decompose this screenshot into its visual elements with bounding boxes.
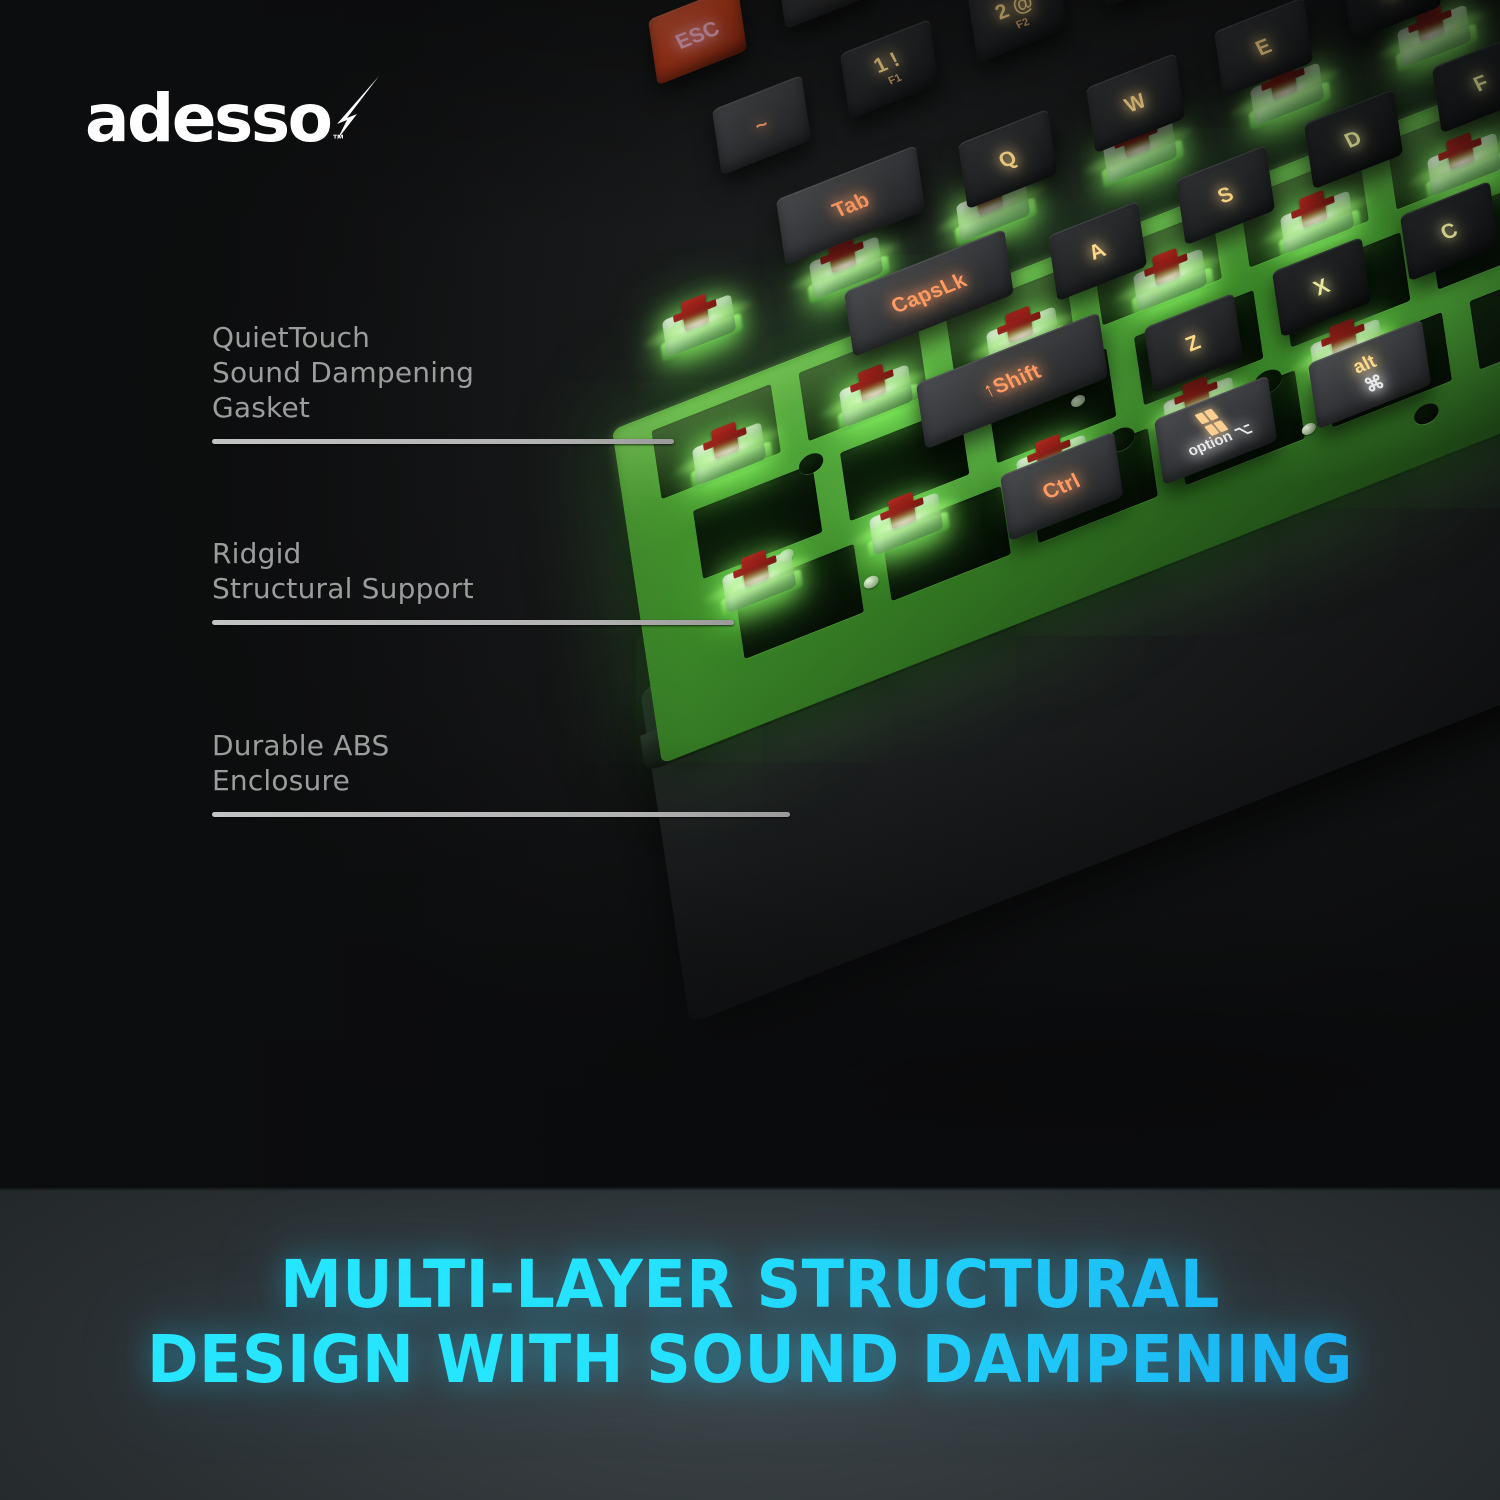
callout-gasket-label: QuietTouch Sound Dampening Gasket	[212, 320, 674, 425]
callout-structural-support: Ridgid Structural Support	[212, 536, 734, 625]
headline-banner: MULTI-LAYER STRUCTURAL DESIGN WITH SOUND…	[0, 1186, 1500, 1500]
callout-abs-enclosure-leader	[212, 812, 790, 817]
callout-abs-enclosure: Durable ABS Enclosure	[212, 728, 790, 817]
callout-abs-enclosure-label: Durable ABS Enclosure	[212, 728, 790, 798]
adesso-logo: adesso ™	[85, 86, 344, 152]
key-2[interactable]: 2 @F2	[968, 0, 1067, 63]
logo-wordmark: adesso	[85, 86, 330, 152]
lightning-bolt-icon	[317, 74, 383, 146]
product-marketing-image: ESC F1 F2 ~ 1 !F1 2 @F2 3 #F3 Tab Q W E …	[0, 0, 1500, 1500]
drop-shadow	[600, 980, 1500, 1186]
banner-top-edge	[0, 1186, 1500, 1191]
headline-line-1: MULTI-LAYER STRUCTURAL	[45, 1248, 1455, 1323]
callout-structural-support-leader	[212, 620, 734, 625]
callout-gasket-leader	[212, 439, 674, 444]
command-icon: ⌘	[1361, 372, 1387, 396]
key-1[interactable]: 1 !F1	[840, 19, 939, 120]
key-tilde[interactable]: ~	[712, 75, 811, 176]
callout-gasket: QuietTouch Sound Dampening Gasket	[212, 320, 674, 444]
key-3[interactable]: 3 #F3	[1096, 0, 1195, 7]
callout-structural-support-label: Ridgid Structural Support	[212, 536, 734, 606]
key-esc[interactable]: ESC	[648, 0, 747, 85]
key-f1[interactable]: F1	[776, 0, 875, 29]
headline-block: MULTI-LAYER STRUCTURAL DESIGN WITH SOUND…	[0, 1248, 1500, 1397]
keyboard-hero-photo: ESC F1 F2 ~ 1 !F1 2 @F2 3 #F3 Tab Q W E …	[0, 0, 1500, 1186]
headline-line-2: DESIGN WITH SOUND DAMPENING	[45, 1323, 1455, 1398]
